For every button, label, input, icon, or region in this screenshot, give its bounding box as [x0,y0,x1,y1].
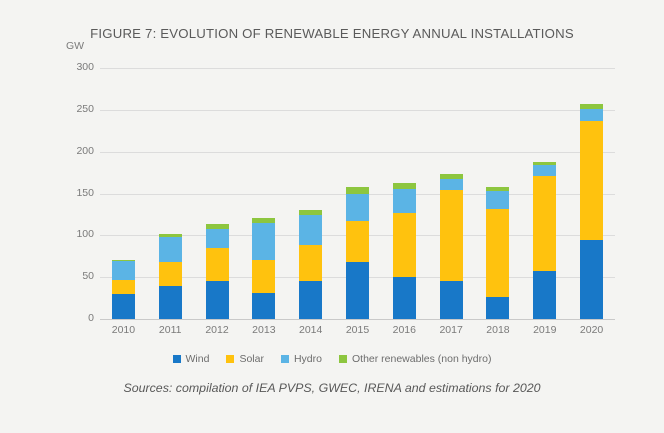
x-tick-label: 2017 [426,324,476,336]
bar-segment-other[interactable] [159,234,182,237]
bar-group[interactable] [299,68,322,319]
bar-segment-wind[interactable] [580,240,603,319]
bar-group[interactable] [580,68,603,319]
bar-segment-wind[interactable] [252,293,275,319]
bar-segment-wind[interactable] [533,271,556,319]
x-tick-label: 2019 [520,324,570,336]
bar-group[interactable] [206,68,229,319]
x-axis-ticks: 2010201120122013201420152016201720182019… [100,324,615,342]
legend-label: Hydro [294,353,322,365]
bar-segment-solar[interactable] [533,176,556,271]
bar-segment-hydro[interactable] [346,194,369,222]
bar-segment-other[interactable] [533,162,556,165]
x-tick-label: 2016 [379,324,429,336]
source-note: Sources: compilation of IEA PVPS, GWEC, … [0,381,664,395]
bar-segment-wind[interactable] [440,281,463,319]
legend-swatch-icon [173,355,181,363]
bar-group[interactable] [440,68,463,319]
bar-segment-hydro[interactable] [112,261,135,279]
bar-segment-wind[interactable] [299,281,322,319]
plot-area [100,68,615,319]
legend-item[interactable]: Hydro [281,353,322,365]
y-tick-label: 150 [60,187,94,199]
legend-label: Wind [186,353,210,365]
bar-segment-other[interactable] [393,183,416,189]
y-axis-ticks: 050100150200250300 [56,68,94,319]
chart-title: FIGURE 7: EVOLUTION OF RENEWABLE ENERGY … [0,26,664,41]
bar-segment-solar[interactable] [112,280,135,294]
bar-segment-solar[interactable] [346,221,369,262]
bar-segment-other[interactable] [206,224,229,228]
bar-segment-solar[interactable] [159,262,182,286]
y-tick-label: 100 [60,228,94,240]
bar-segment-other[interactable] [252,218,275,223]
bar-segment-wind[interactable] [393,277,416,319]
x-tick-label: 2013 [239,324,289,336]
y-tick-label: 0 [60,312,94,324]
bar-segment-hydro[interactable] [206,229,229,248]
legend-item[interactable]: Wind [173,353,210,365]
legend-swatch-icon [339,355,347,363]
bar-group[interactable] [252,68,275,319]
bar-segment-other[interactable] [346,187,369,194]
x-tick-label: 2015 [333,324,383,336]
y-tick-label: 200 [60,145,94,157]
x-tick-label: 2020 [567,324,617,336]
y-tick-label: 250 [60,103,94,115]
x-tick-label: 2012 [192,324,242,336]
y-tick-label: 300 [60,61,94,73]
bar-group[interactable] [112,68,135,319]
bar-segment-hydro[interactable] [159,237,182,262]
figure-container: FIGURE 7: EVOLUTION OF RENEWABLE ENERGY … [0,0,664,433]
bar-segment-other[interactable] [112,260,135,261]
bar-segment-hydro[interactable] [299,215,322,244]
bar-segment-solar[interactable] [206,248,229,281]
x-tick-label: 2014 [286,324,336,336]
bar-segment-hydro[interactable] [533,165,556,176]
legend-swatch-icon [226,355,234,363]
legend-item[interactable]: Solar [226,353,264,365]
bar-segment-hydro[interactable] [252,223,275,261]
x-axis-line [100,319,615,320]
legend-item[interactable]: Other renewables (non hydro) [339,353,492,365]
bar-segment-solar[interactable] [393,213,416,277]
bar-segment-hydro[interactable] [440,179,463,190]
legend-label: Solar [239,353,264,365]
x-tick-label: 2010 [98,324,148,336]
bar-segment-solar[interactable] [580,121,603,241]
bar-segment-other[interactable] [440,174,463,179]
bar-segment-hydro[interactable] [486,191,509,209]
x-tick-label: 2018 [473,324,523,336]
bar-segment-wind[interactable] [346,262,369,319]
bar-segment-other[interactable] [580,104,603,109]
x-tick-label: 2011 [145,324,195,336]
bar-segment-wind[interactable] [159,286,182,319]
legend-label: Other renewables (non hydro) [352,353,492,365]
bar-segment-wind[interactable] [486,297,509,319]
bar-segment-hydro[interactable] [580,109,603,121]
bar-segment-solar[interactable] [486,209,509,298]
y-axis-unit-label: GW [66,40,84,52]
bar-segment-wind[interactable] [112,294,135,319]
bar-group[interactable] [393,68,416,319]
bar-segment-hydro[interactable] [393,189,416,212]
bar-group[interactable] [486,68,509,319]
bar-group[interactable] [533,68,556,319]
bar-segment-solar[interactable] [440,190,463,280]
bar-segment-other[interactable] [486,187,509,191]
bar-group[interactable] [346,68,369,319]
bar-group[interactable] [159,68,182,319]
bar-segment-other[interactable] [299,210,322,215]
bar-segment-solar[interactable] [299,245,322,282]
bar-segment-solar[interactable] [252,260,275,293]
y-tick-label: 50 [60,270,94,282]
legend-swatch-icon [281,355,289,363]
chart-legend: WindSolarHydroOther renewables (non hydr… [0,353,664,365]
bar-segment-wind[interactable] [206,281,229,319]
